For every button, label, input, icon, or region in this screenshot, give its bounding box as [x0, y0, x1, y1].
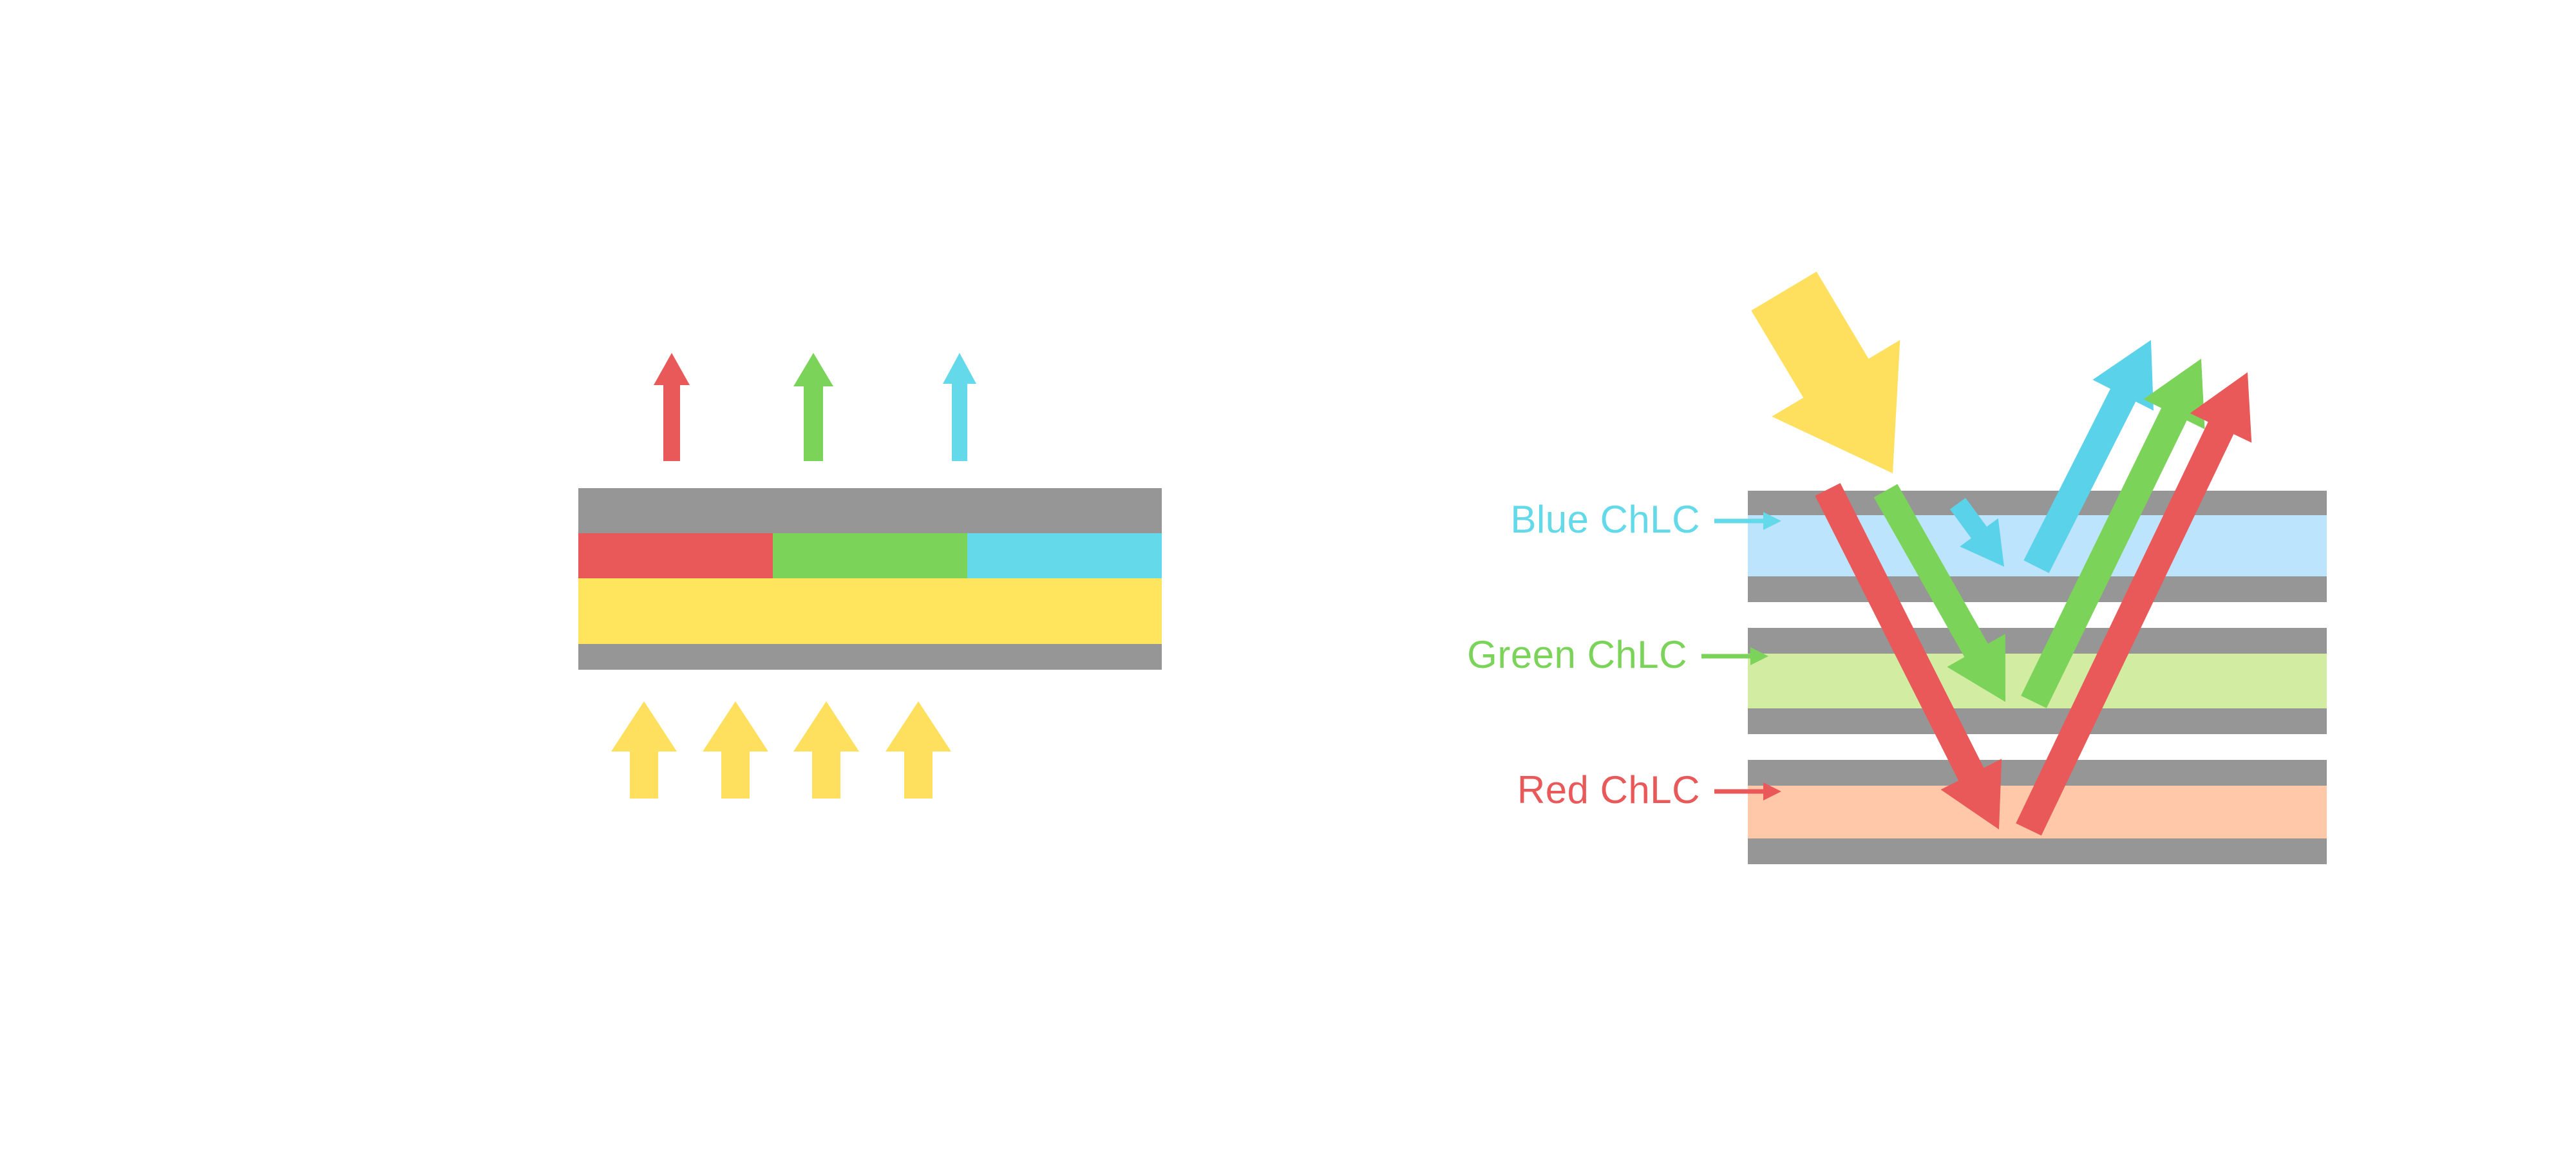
green-chlc-cell-label: Green ChLC	[1467, 633, 1687, 676]
bottom-electrode-bar	[578, 644, 1162, 670]
figure-canvas: Blue ChLCGreen ChLCRed ChLC	[0, 0, 2576, 1154]
figure-root: Blue ChLCGreen ChLCRed ChLC	[0, 0, 2576, 1154]
red-chlc-cell-bottom-electrode-bar	[1748, 838, 2327, 864]
blue-chlc-cell-label: Blue ChLC	[1510, 498, 1700, 541]
red-segment	[578, 533, 773, 578]
top-electrode-bar	[578, 488, 1162, 533]
green-chlc-cell-bottom-electrode-bar	[1748, 708, 2327, 734]
green-segment	[773, 533, 967, 578]
blue-segment	[967, 533, 1162, 578]
red-chlc-cell-label: Red ChLC	[1517, 768, 1700, 811]
yellow-backlight-layer	[578, 578, 1162, 644]
blue-chlc-cell-bottom-electrode-bar	[1748, 576, 2327, 602]
green-chlc-cell-top-electrode-bar	[1748, 628, 2327, 654]
left-stack	[578, 488, 1162, 670]
